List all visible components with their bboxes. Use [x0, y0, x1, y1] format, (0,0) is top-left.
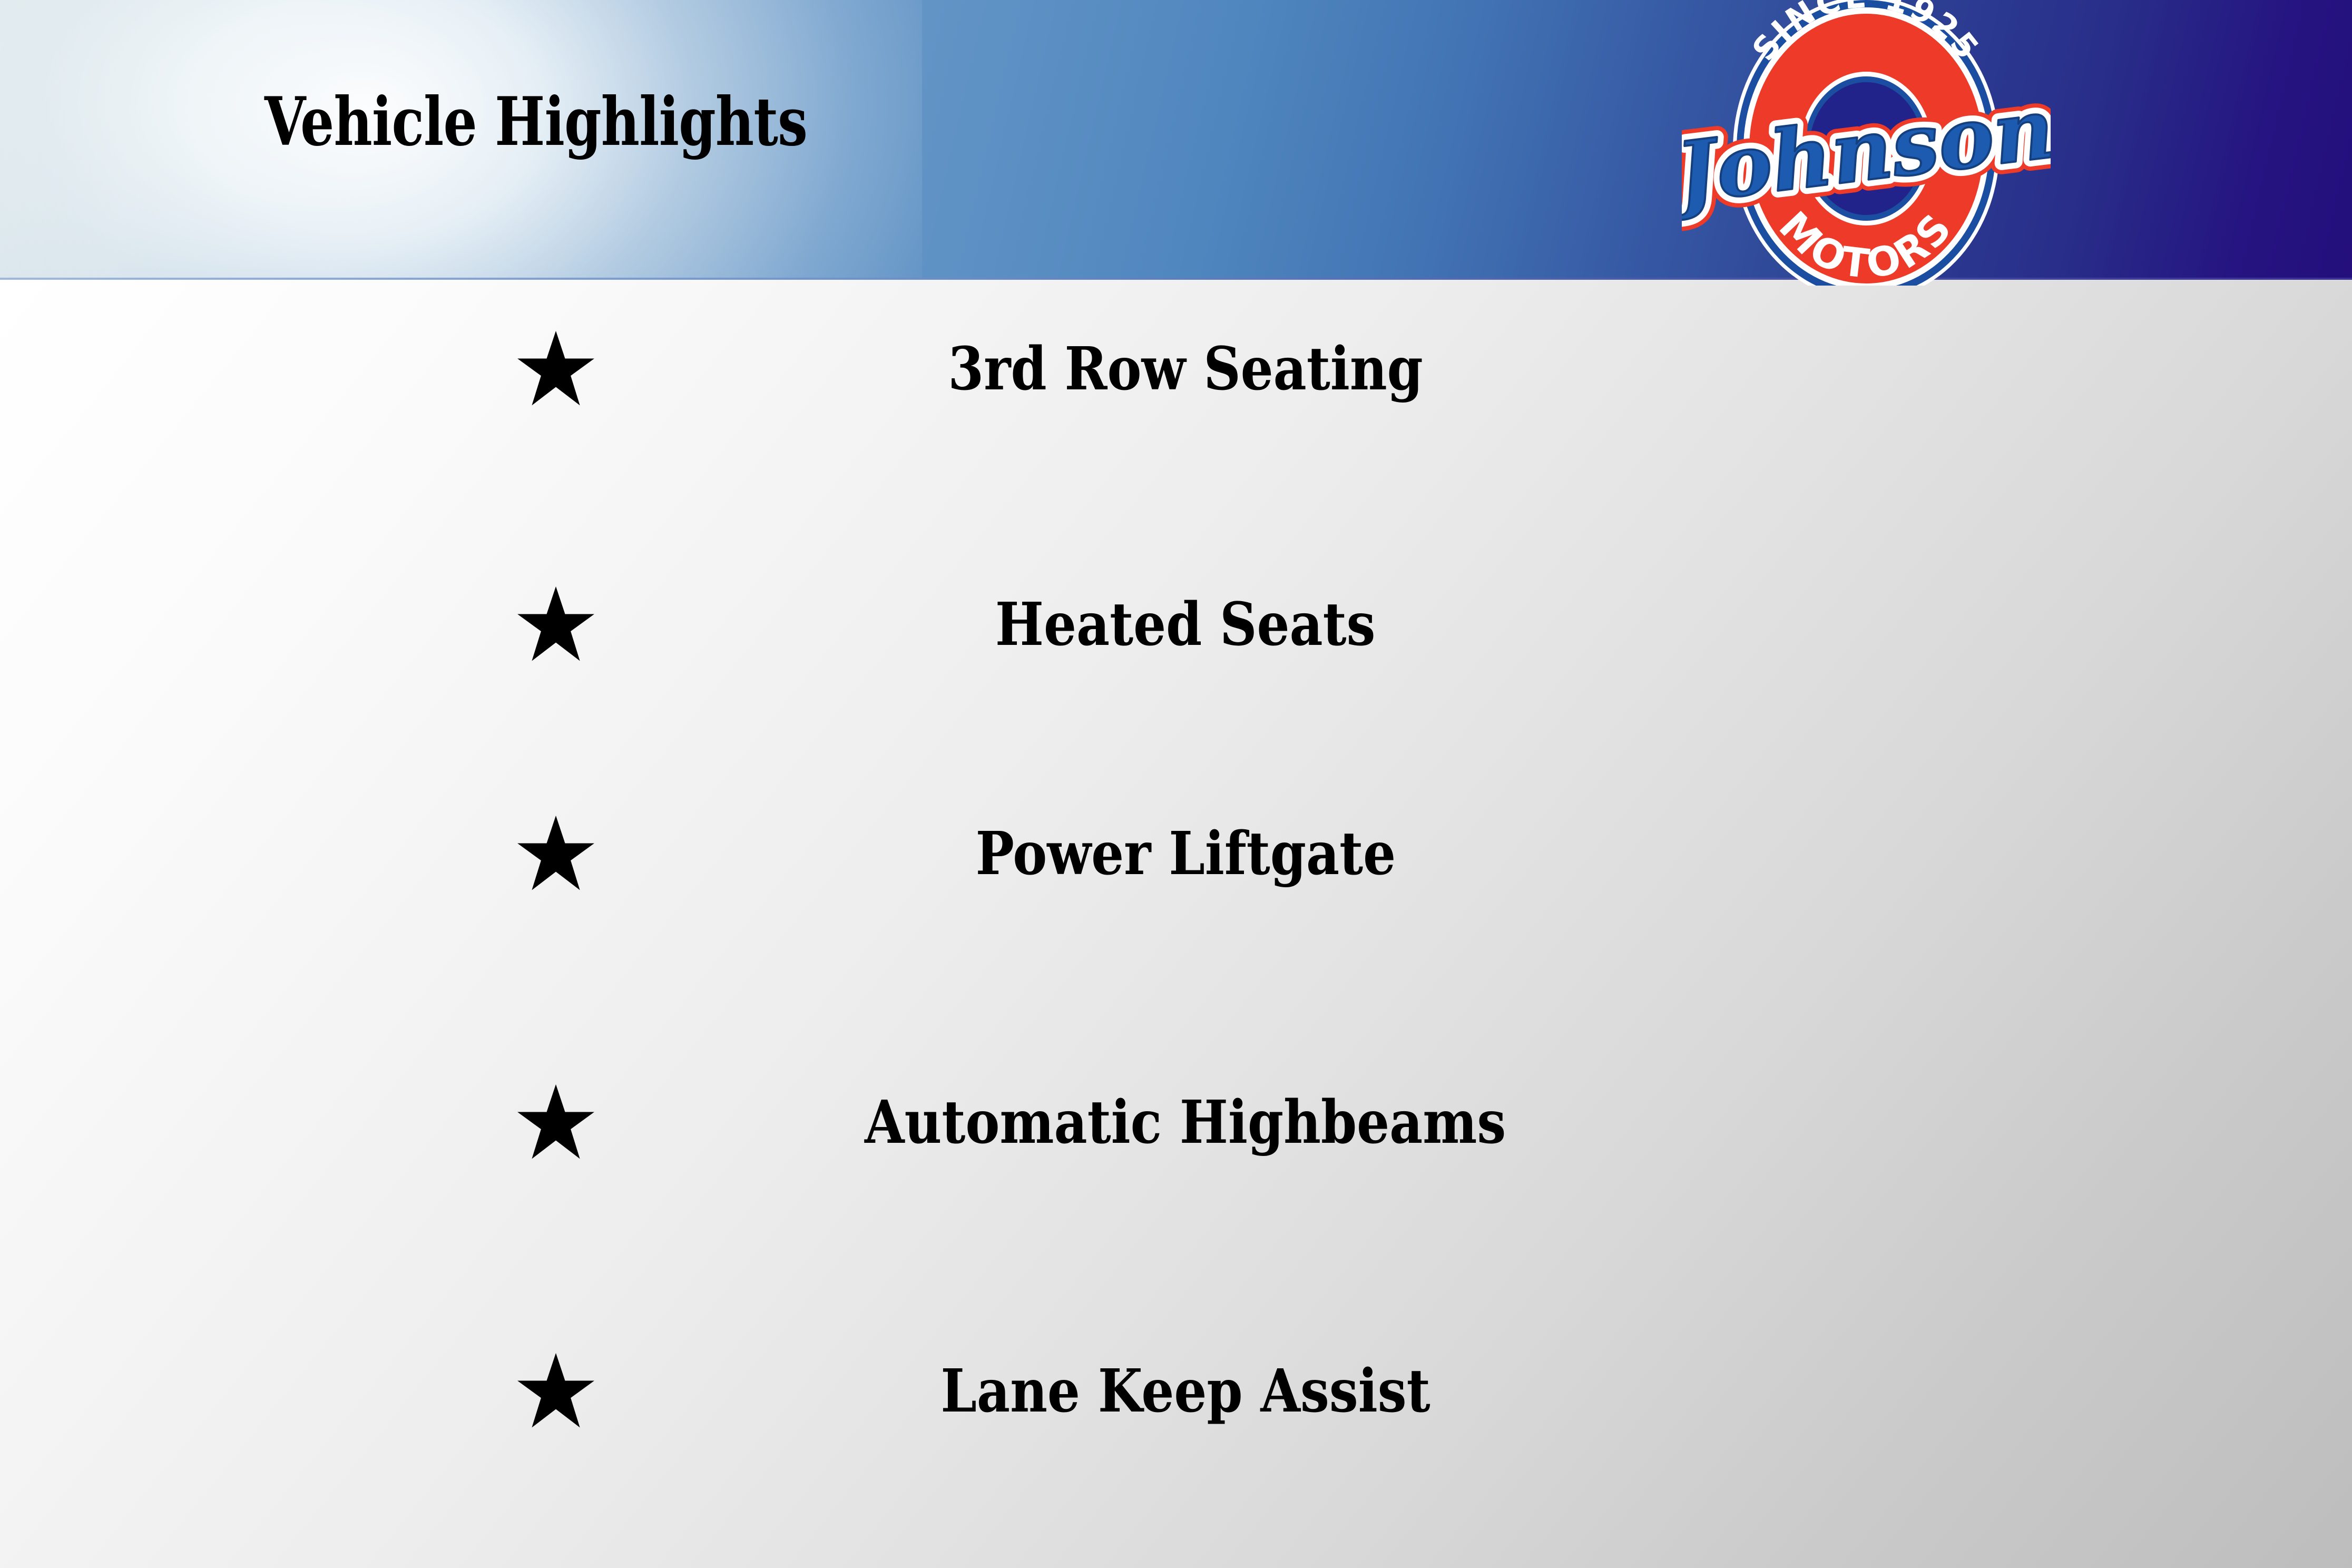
highlight-label: Power Liftgate	[606, 791, 1765, 917]
highlight-label: Heated Seats	[606, 562, 1765, 688]
highlight-label: Lane Keep Assist	[606, 1328, 1765, 1455]
list-item: Power Liftgate	[0, 791, 2352, 917]
star-icon	[514, 562, 598, 688]
star-icon	[514, 1328, 598, 1455]
highlight-label: Automatic Highbeams	[606, 1060, 1765, 1186]
list-item: Automatic Highbeams	[0, 1060, 2352, 1186]
list-item: Heated Seats	[0, 562, 2352, 688]
list-item: 3rd Row Seating	[0, 306, 2352, 433]
page-title: Vehicle Highlights	[264, 89, 807, 155]
star-icon	[514, 791, 598, 917]
list-item: Lane Keep Assist	[0, 1328, 2352, 1455]
johnson-motors-logo: SINCE 1925 MOTORS Johnson Johnson Johnso…	[1682, 0, 2051, 286]
star-icon	[514, 306, 598, 433]
vehicle-highlights-slide: Vehicle Highlights SINCE 1925	[0, 0, 2352, 1568]
highlights-list: 3rd Row Seating Heated Seats Power Liftg…	[0, 280, 2352, 1568]
star-icon	[514, 1060, 598, 1186]
highlight-label: 3rd Row Seating	[606, 306, 1765, 433]
